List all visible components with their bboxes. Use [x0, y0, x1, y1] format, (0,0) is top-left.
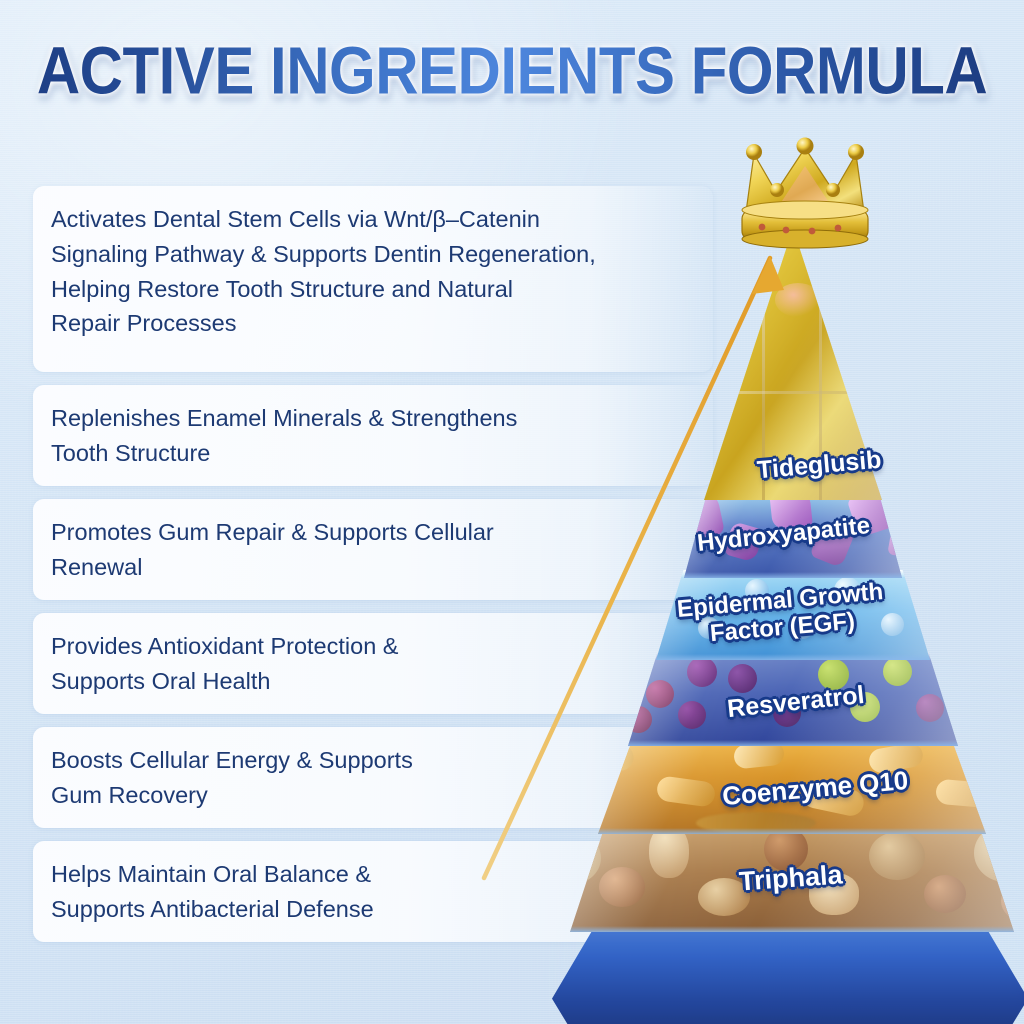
pyramid-layer-resveratrol: Resveratrol — [628, 652, 958, 746]
crown-icon — [720, 132, 890, 254]
pyramid-layer-hydroxyapatite: Hydroxyapatite — [684, 490, 902, 578]
ingredients-pyramid: Triphala Coenzyme Q10 — [452, 118, 1024, 1024]
pyramid-layer-triphala: Triphala — [570, 824, 1014, 932]
pyramid-layer-tideglusib: Tideglusib — [704, 228, 882, 500]
pyramid-layer-egf: Epidermal Growth Factor (EGF) — [656, 570, 930, 660]
pyramid-base-slab — [552, 918, 1024, 1024]
page-title: ACTIVE INGREDIENTS FORMULA — [37, 32, 987, 109]
pyramid-layer-coq10: Coenzyme Q10 — [598, 738, 986, 834]
page-title-container: ACTIVE INGREDIENTS FORMULA — [0, 36, 1024, 105]
